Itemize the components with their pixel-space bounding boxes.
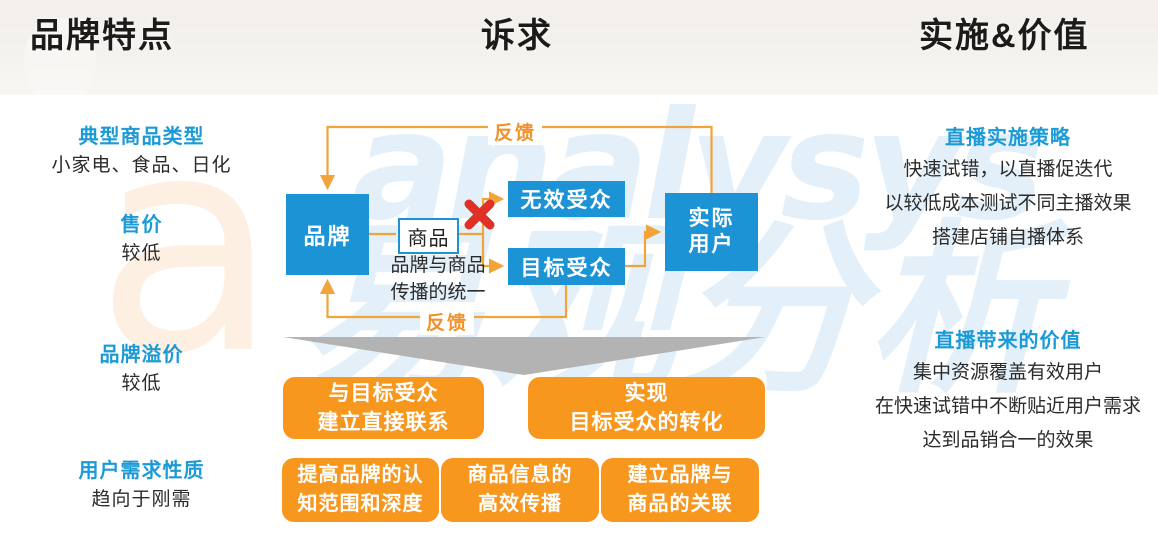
diagram-caption-line1: 品牌与商品 (378, 252, 498, 279)
header-title-appeal: 诉求 (481, 8, 553, 57)
left-block-price: 售价 较低 (0, 211, 283, 269)
benefit-box-1-line1: 提高品牌的认 (298, 461, 424, 490)
node-invalid-audience[interactable]: 无效受众 (508, 181, 625, 217)
node-brand[interactable]: 品牌 (286, 194, 369, 275)
down-chevron-shape (283, 337, 765, 375)
blocked-cross-icon (463, 198, 496, 231)
slide-root: 品牌特点 诉求 实施&价值 a analysys 易观分析 典型商品类型 小家电… (0, 0, 1158, 533)
right-block-heading: 直播带来的价值 (858, 326, 1158, 356)
left-block-heading: 售价 (0, 211, 283, 239)
node-target-audience[interactable]: 目标受众 (508, 248, 625, 285)
left-block-heading: 用户需求性质 (0, 457, 283, 485)
right-block-line: 在快速试错中不断贴近用户需求 (858, 390, 1158, 424)
node-goods[interactable]: 商品 (398, 218, 459, 254)
header-title-brand-features: 品牌特点 (30, 8, 174, 57)
benefit-box-3-line1: 建立品牌与 (628, 461, 733, 490)
left-block-heading: 品牌溢价 (0, 341, 283, 369)
outcome-box-1-line1: 与目标受众 (318, 379, 450, 408)
header-banner: 品牌特点 诉求 实施&价值 (0, 0, 1158, 95)
node-actual-user-line1: 实际 (689, 206, 735, 232)
benefit-box-1[interactable]: 提高品牌的认 知范围和深度 (282, 458, 439, 522)
left-block-value: 较低 (0, 239, 283, 269)
header-title-implementation-value: 实施&价值 (919, 8, 1090, 57)
right-block-heading: 直播实施策略 (858, 123, 1158, 153)
right-block-line: 搭建店铺自播体系 (858, 221, 1158, 255)
benefit-box-2[interactable]: 商品信息的 高效传播 (441, 458, 599, 522)
left-block-brand-premium: 品牌溢价 较低 (0, 341, 283, 399)
outcome-box-1[interactable]: 与目标受众 建立直接联系 (283, 377, 484, 439)
right-block-line: 达到品销合一的效果 (858, 424, 1158, 458)
left-block-value: 小家电、食品、日化 (0, 151, 283, 181)
outcome-box-2-line2: 目标受众的转化 (570, 408, 724, 437)
right-block-line: 快速试错，以直播促迭代 (858, 153, 1158, 187)
left-block-value: 较低 (0, 369, 283, 399)
right-block-live-strategy: 直播实施策略 快速试错，以直播促迭代 以较低成本测试不同主播效果 搭建店铺自播体… (858, 123, 1158, 255)
left-block-demand-nature: 用户需求性质 趋向于刚需 (0, 457, 283, 515)
node-actual-user[interactable]: 实际 用户 (665, 193, 758, 271)
benefit-box-3[interactable]: 建立品牌与 商品的关联 (601, 458, 759, 522)
right-block-live-value: 直播带来的价值 集中资源覆盖有效用户 在快速试错中不断贴近用户需求 达到品销合一… (858, 326, 1158, 458)
right-block-line: 以较低成本测试不同主播效果 (858, 187, 1158, 221)
diagram-caption-line2: 传播的统一 (378, 279, 498, 306)
left-block-product-type: 典型商品类型 小家电、食品、日化 (0, 123, 283, 181)
right-block-line: 集中资源覆盖有效用户 (858, 356, 1158, 390)
feedback-label-top: 反馈 (488, 118, 542, 145)
node-actual-user-line2: 用户 (689, 232, 735, 258)
benefit-box-2-line1: 商品信息的 (468, 461, 573, 490)
benefit-box-3-line2: 商品的关联 (628, 490, 733, 519)
outcome-box-1-line2: 建立直接联系 (318, 408, 450, 437)
center-diagram: 反馈 反馈 品牌 商品 无效受众 目标受众 实际 用户 品牌与商品 传播的统一 … (283, 95, 858, 533)
benefit-box-2-line2: 高效传播 (468, 490, 573, 519)
benefit-box-1-line2: 知范围和深度 (298, 490, 424, 519)
outcome-box-2[interactable]: 实现 目标受众的转化 (528, 377, 765, 439)
right-column: 直播实施策略 快速试错，以直播促迭代 以较低成本测试不同主播效果 搭建店铺自播体… (858, 95, 1158, 533)
outcome-box-2-line1: 实现 (570, 379, 724, 408)
left-block-value: 趋向于刚需 (0, 485, 283, 515)
left-column: 典型商品类型 小家电、食品、日化 售价 较低 品牌溢价 较低 用户需求性质 趋向… (0, 95, 283, 533)
feedback-label-bottom: 反馈 (420, 308, 474, 335)
diagram-caption: 品牌与商品 传播的统一 (378, 252, 498, 306)
left-block-heading: 典型商品类型 (0, 123, 283, 151)
